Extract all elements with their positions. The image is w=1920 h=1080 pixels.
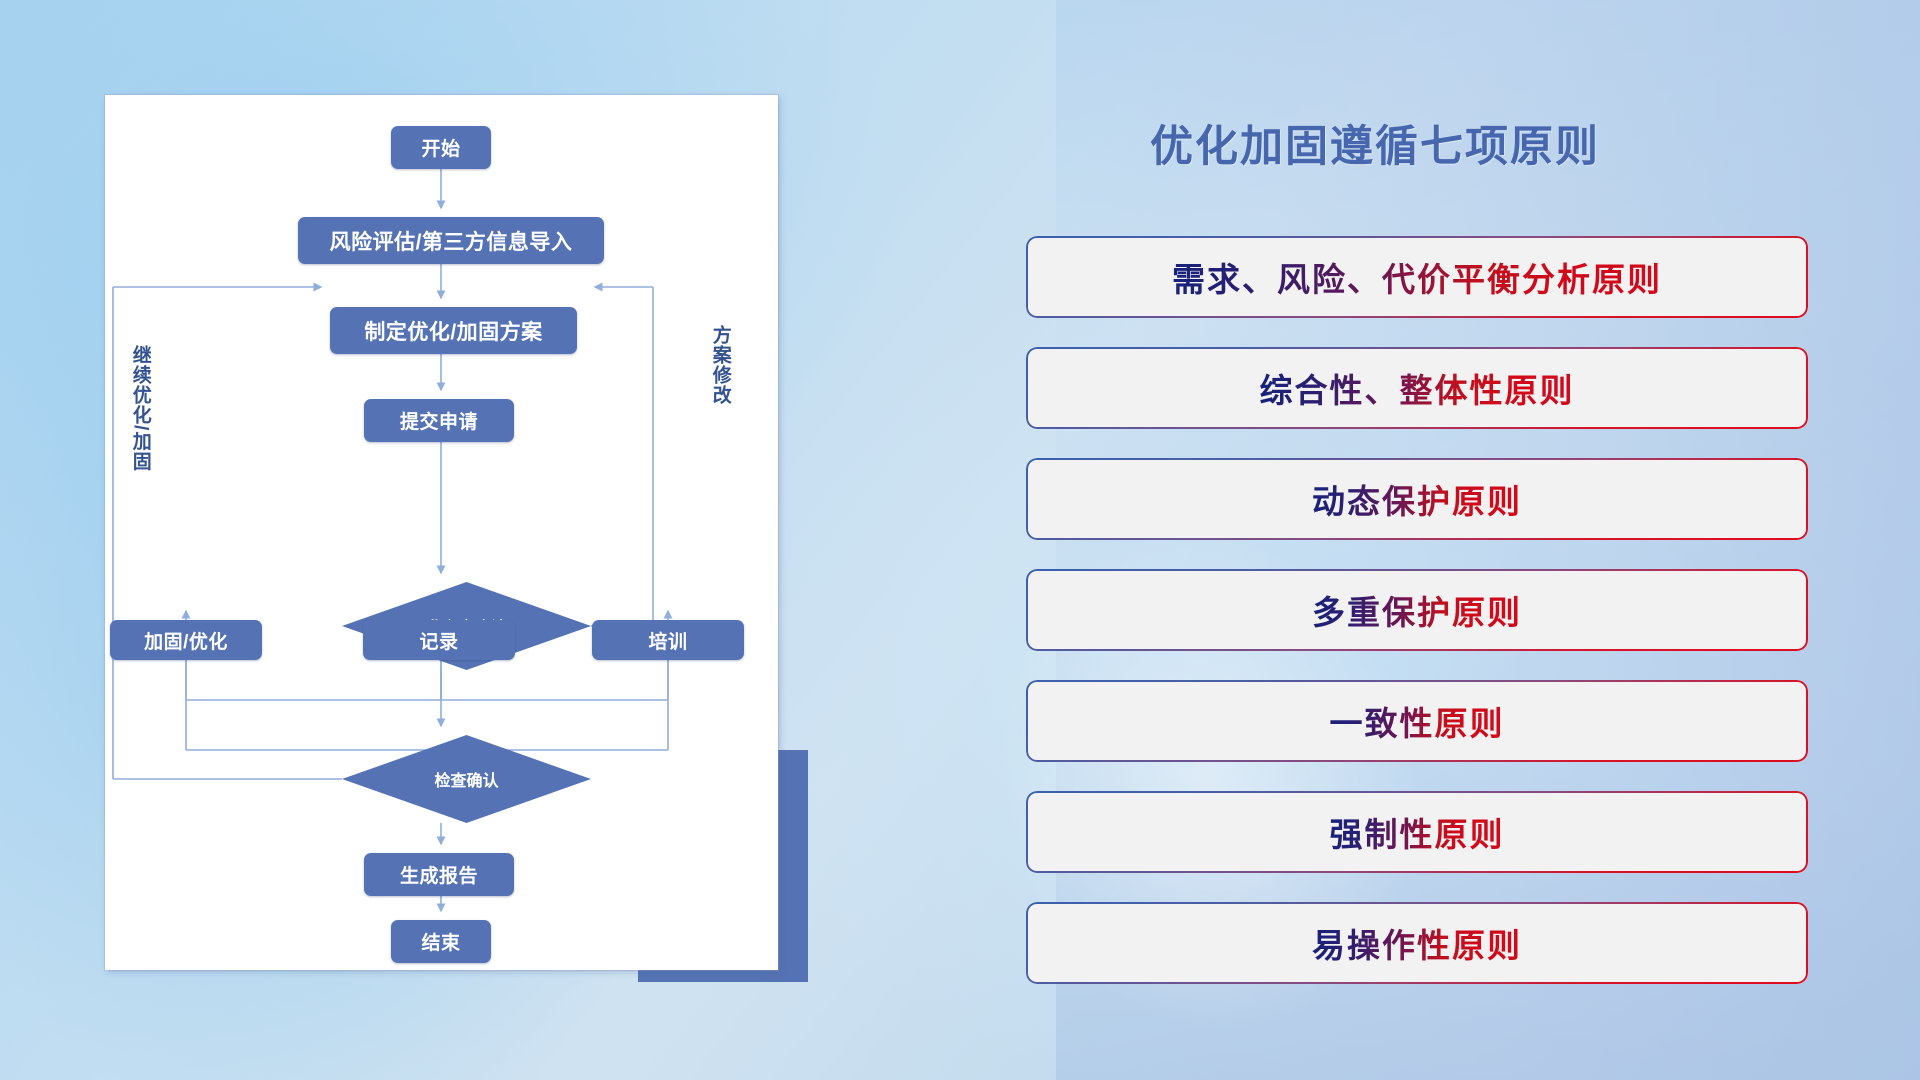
flow-node-label: 记录 xyxy=(419,627,458,654)
principle-label: 多重保护原则 xyxy=(1312,586,1522,634)
principles-title: 优化加固遵循七项原则 xyxy=(1150,112,1600,174)
principle-item-6[interactable]: 强制性原则 xyxy=(1026,791,1808,873)
flow-node-check-confirm[interactable]: 检查确认 xyxy=(342,735,591,823)
principle-item-5[interactable]: 一致性原则 xyxy=(1026,680,1808,762)
flow-node-start[interactable]: 开始 xyxy=(391,126,491,169)
flow-node-reinforce-optimize[interactable]: 加固/优化 xyxy=(110,620,262,660)
flow-node-label: 检查确认 xyxy=(434,767,498,791)
flow-node-label: 加固/优化 xyxy=(144,627,228,654)
flow-node-label: 开始 xyxy=(421,134,460,161)
flow-node-label: 风险评估/第三方信息导入 xyxy=(330,226,573,256)
flow-node-generate-report[interactable]: 生成报告 xyxy=(364,853,514,896)
flow-edge-label-continue-optimize: 继续优化/加固 xyxy=(130,345,150,471)
principle-label: 动态保护原则 xyxy=(1312,475,1522,523)
flow-node-record[interactable]: 记录 xyxy=(363,620,515,660)
principle-item-2[interactable]: 综合性、整体性原则 xyxy=(1026,347,1808,429)
flow-node-training[interactable]: 培训 xyxy=(592,620,744,660)
flow-node-label: 制定优化/加固方案 xyxy=(364,316,542,346)
flow-node-risk-assessment[interactable]: 风险评估/第三方信息导入 xyxy=(298,217,604,264)
principle-item-1[interactable]: 需求、风险、代价平衡分析原则 xyxy=(1026,236,1808,318)
flow-node-label: 生成报告 xyxy=(400,861,478,888)
principle-label: 需求、风险、代价平衡分析原则 xyxy=(1172,253,1662,301)
principle-item-3[interactable]: 动态保护原则 xyxy=(1026,458,1808,540)
principle-label: 综合性、整体性原则 xyxy=(1260,364,1575,412)
flowchart-panel: 开始 风险评估/第三方信息导入 制定优化/加固方案 提交申请 业主方确认 加固/… xyxy=(105,95,778,970)
flow-node-label: 提交申请 xyxy=(400,407,478,434)
flow-node-make-plan[interactable]: 制定优化/加固方案 xyxy=(330,307,577,354)
flow-node-end[interactable]: 结束 xyxy=(391,920,491,963)
principle-item-4[interactable]: 多重保护原则 xyxy=(1026,569,1808,651)
principle-item-7[interactable]: 易操作性原则 xyxy=(1026,902,1808,984)
principle-label: 一致性原则 xyxy=(1330,697,1505,745)
flow-node-label: 结束 xyxy=(421,928,460,955)
principle-label: 易操作性原则 xyxy=(1312,919,1522,967)
principle-label: 强制性原则 xyxy=(1330,808,1505,856)
flow-edge-label-plan-revision: 方案修改 xyxy=(710,325,730,405)
flow-node-submit-application[interactable]: 提交申请 xyxy=(364,399,514,442)
flow-node-label: 培训 xyxy=(648,627,687,654)
